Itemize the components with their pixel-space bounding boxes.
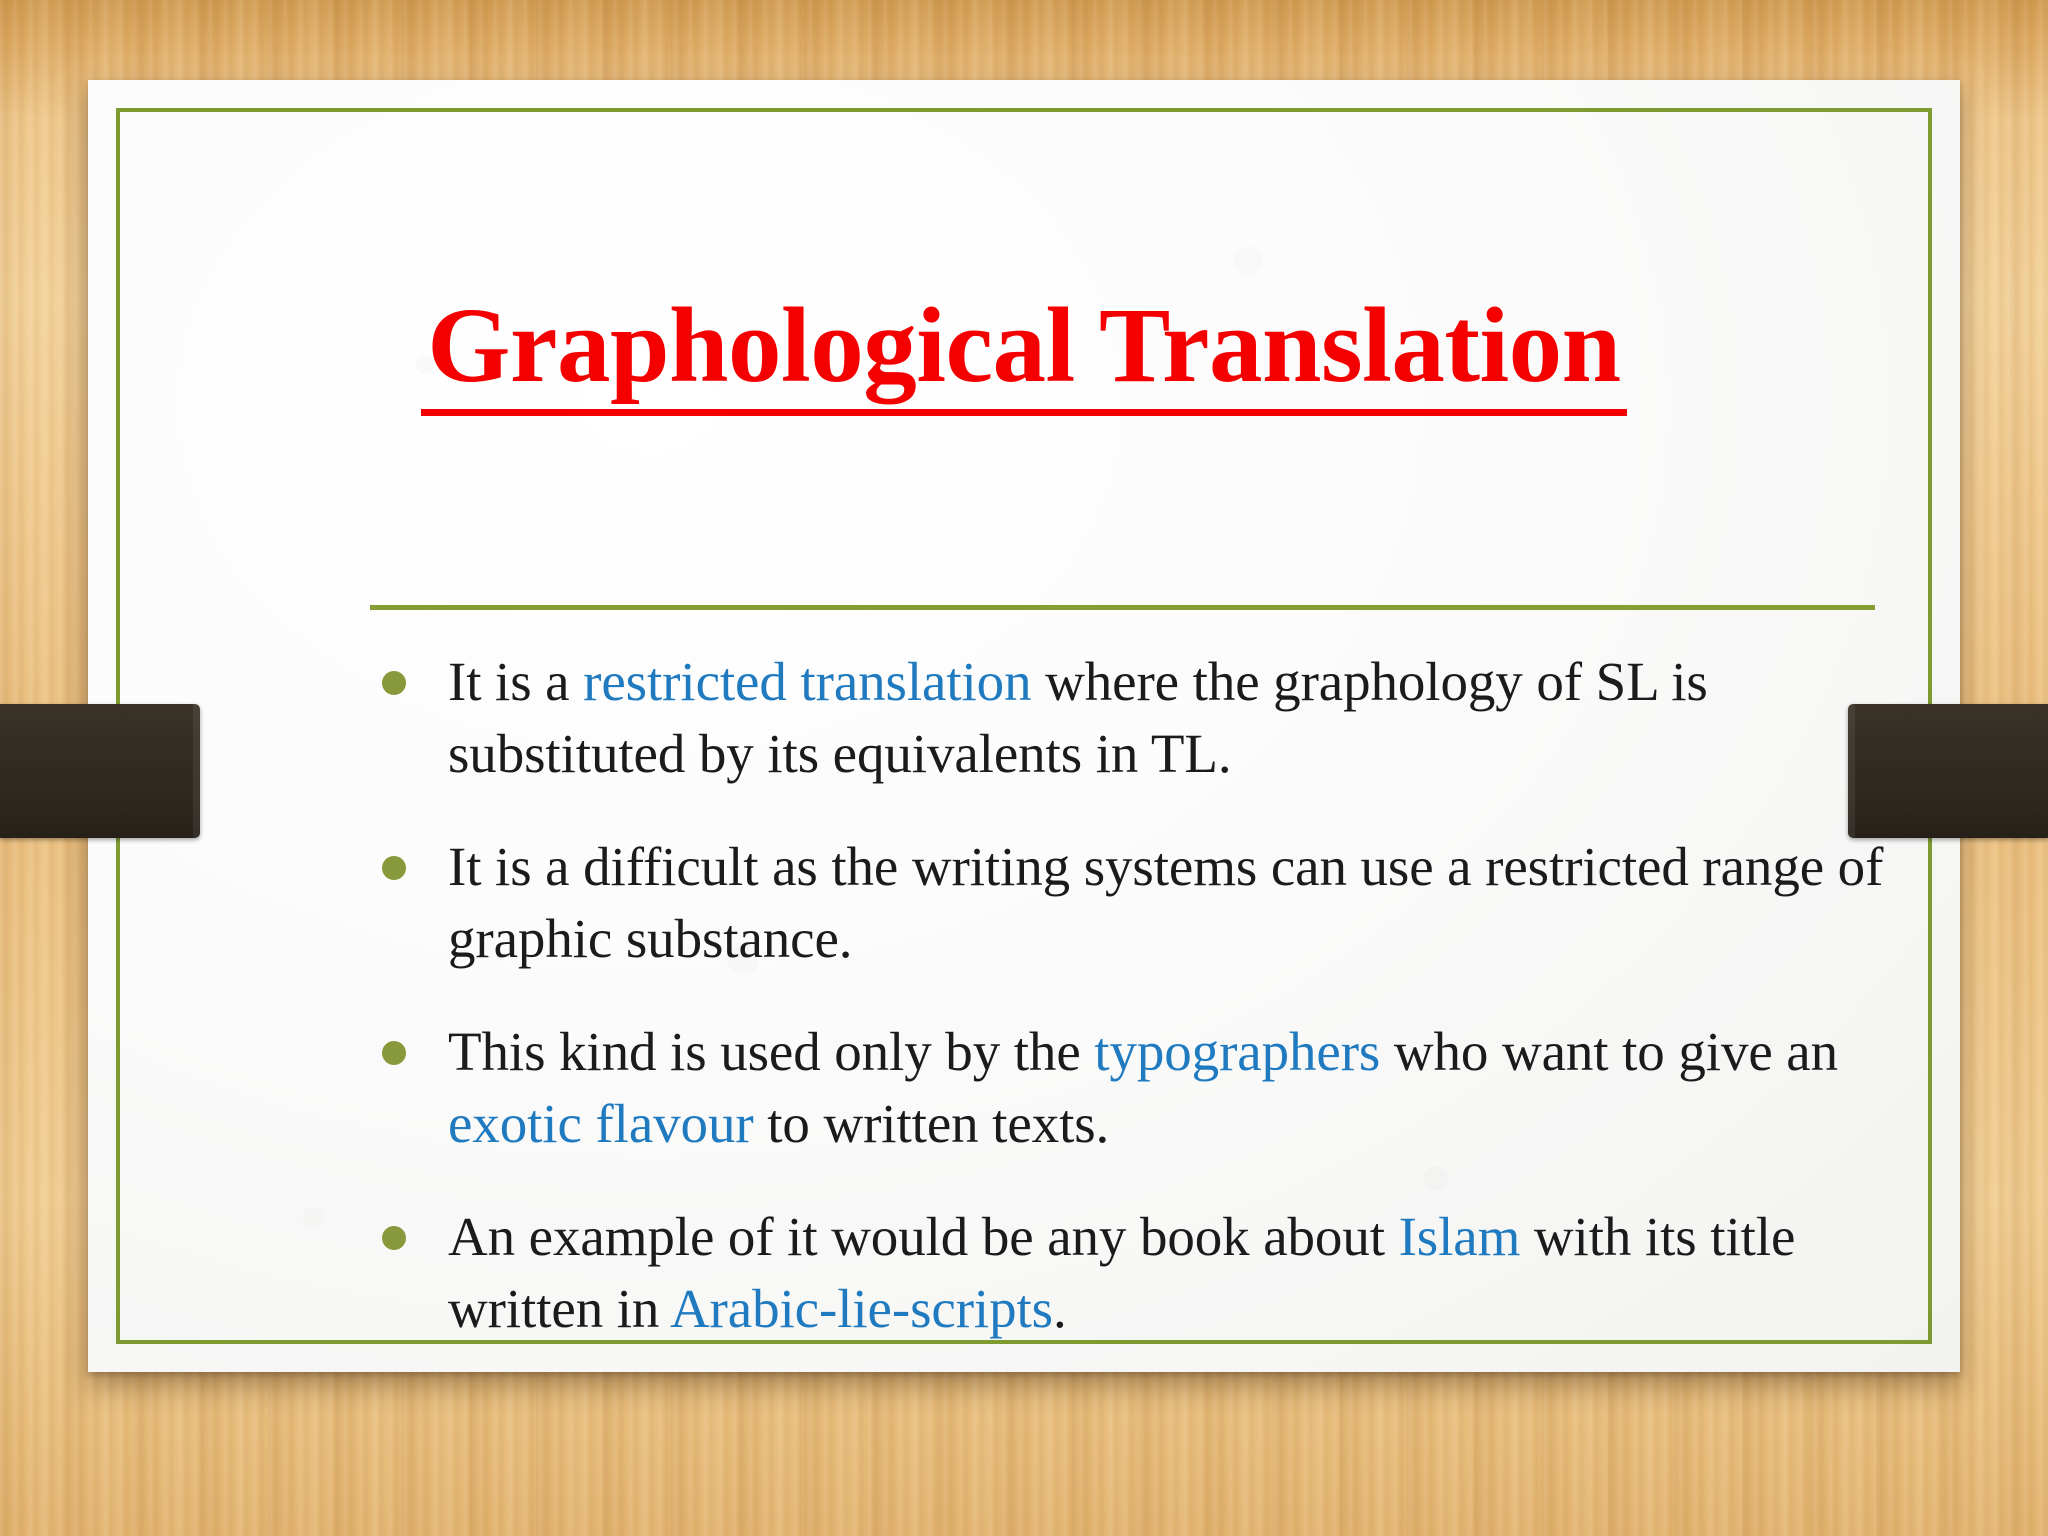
highlighted-term: Islam [1399,1206,1521,1267]
text-run: This kind is used only by the [448,1021,1094,1082]
page-title: Graphological Translation [421,290,1626,416]
title-divider-rule [370,605,1875,610]
bullet-list: It is a restricted translation where the… [370,646,1910,1344]
text-run: who want to give an [1380,1021,1838,1082]
bullet-dot-icon [382,856,406,880]
list-item: It is a restricted translation where the… [370,646,1910,789]
highlighted-term: exotic flavour [448,1093,754,1154]
highlighted-term: restricted translation [583,651,1031,712]
list-item-text: This kind is used only by the typographe… [448,1021,1838,1154]
bullet-dot-icon [382,1226,406,1250]
highlighted-term: Arabic-lie-scripts [670,1278,1053,1339]
text-run: It is a difficult as the writing systems… [448,836,1883,969]
text-run: to written texts. [754,1093,1110,1154]
text-run: It is a [448,651,583,712]
list-item: It is a difficult as the writing systems… [370,831,1910,974]
slide-panel: Graphological Translation It is a restri… [88,80,1960,1372]
bullet-dot-icon [382,671,406,695]
title-block: Graphological Translation [116,290,1932,416]
left-cross-bar [0,704,200,838]
bullet-dot-icon [382,1041,406,1065]
list-item-text: An example of it would be any book about… [448,1206,1795,1339]
highlighted-term: typographers [1094,1021,1380,1082]
text-run: An example of it would be any book about [448,1206,1399,1267]
list-item-text: It is a restricted translation where the… [448,651,1708,784]
right-cross-bar [1848,704,2048,838]
wood-desk-background: Graphological Translation It is a restri… [0,0,2048,1536]
list-item-text: It is a difficult as the writing systems… [448,836,1883,969]
text-run: . [1053,1278,1067,1339]
list-item: This kind is used only by the typographe… [370,1016,1910,1159]
list-item: An example of it would be any book about… [370,1201,1910,1344]
